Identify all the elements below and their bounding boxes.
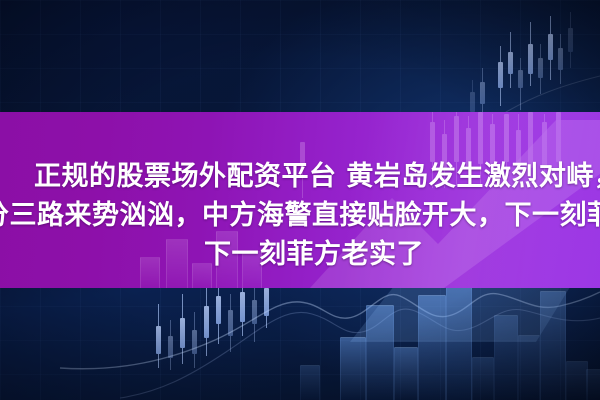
headline-line-2: 分三路来势汹汹，中方海警直接贴脸开大，下一刻菲方: [0, 201, 600, 231]
banner-image: 正规的股票场外配资平台 黄岩岛发生激烈对峙， 分三路来势汹汹，中方海警直接贴脸开…: [0, 0, 600, 400]
headline-text-block: 正规的股票场外配资平台 黄岩岛发生激烈对峙， 分三路来势汹汹，中方海警直接贴脸开…: [0, 112, 600, 288]
headline-line-3: 下一刻菲方老实了: [204, 240, 424, 270]
headline-line-1: 正规的股票场外配资平台 黄岩岛发生激烈对峙，: [34, 162, 600, 192]
